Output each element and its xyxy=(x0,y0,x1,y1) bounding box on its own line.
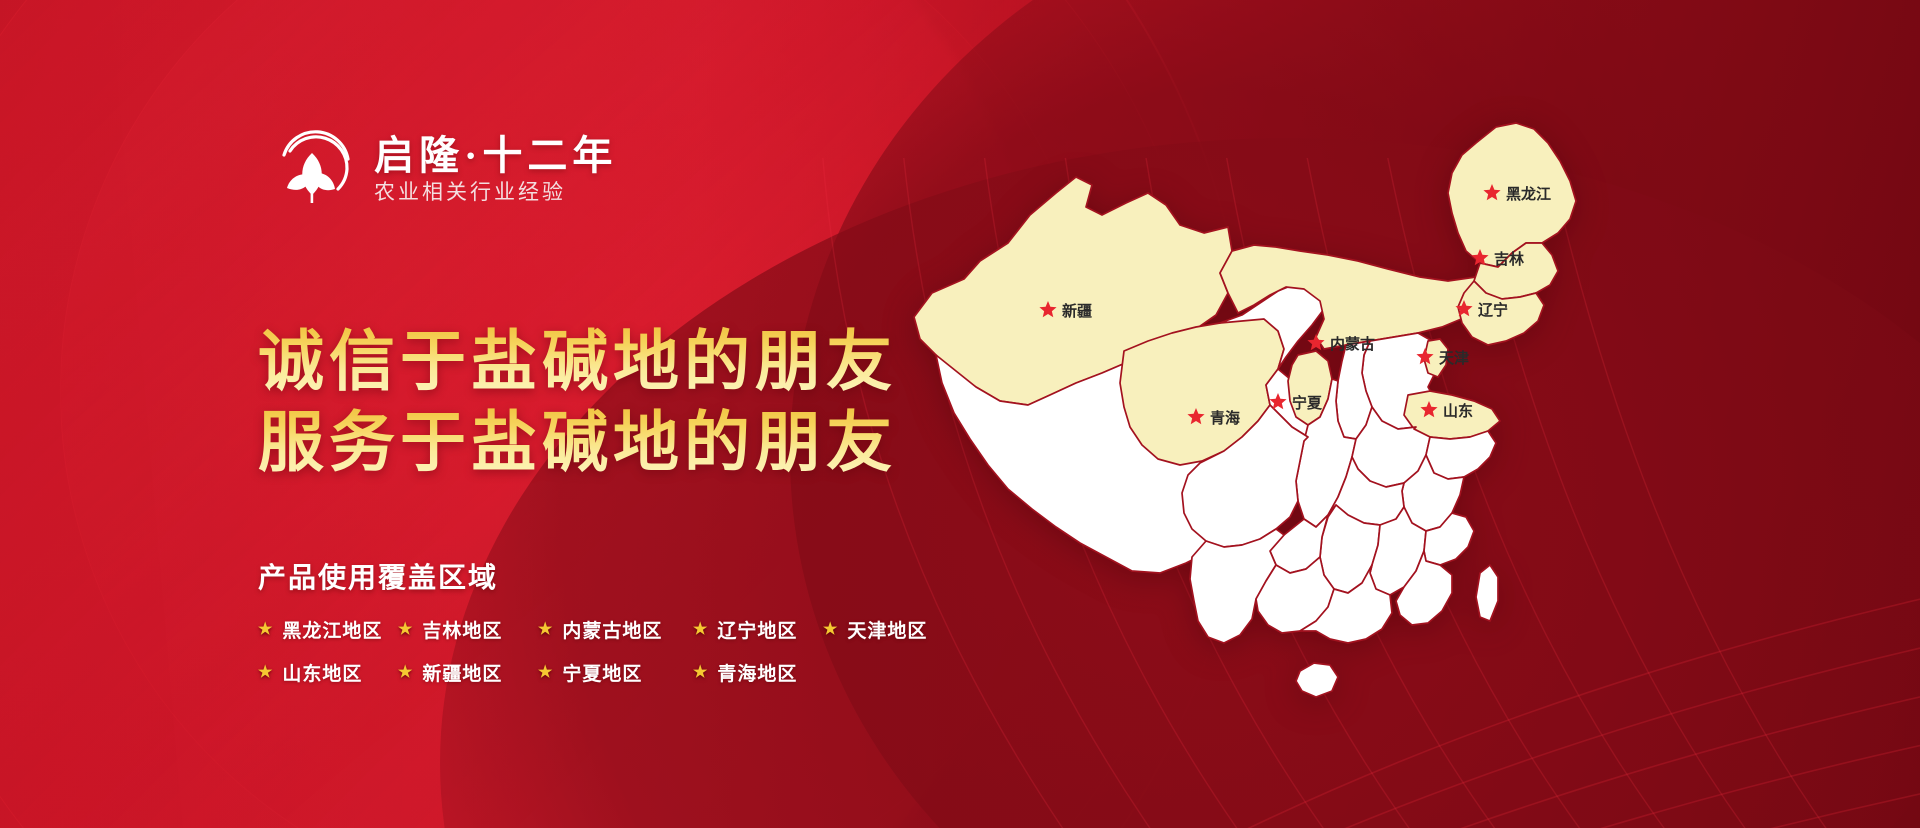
headline-line-2: 服务于盐碱地的朋友 xyxy=(258,403,897,484)
coverage-item[interactable]: ★黑龙江地区 xyxy=(258,616,398,643)
coverage-item[interactable]: ★辽宁地区 xyxy=(693,616,823,643)
headline: 诚信于盐碱地的朋友 服务于盐碱地的朋友 xyxy=(258,322,897,484)
map-label: 天津 xyxy=(1439,349,1469,367)
province-hainan xyxy=(1296,663,1338,697)
map-label: 青海 xyxy=(1210,409,1240,427)
star-icon: ★ xyxy=(538,622,553,638)
star-icon: ★ xyxy=(398,622,413,638)
map-label: 新疆 xyxy=(1062,302,1092,320)
coverage-item-label: 宁夏地区 xyxy=(562,659,642,686)
brand-title: 启隆·十二年 xyxy=(374,136,617,176)
coverage-item[interactable]: ★宁夏地区 xyxy=(538,659,693,686)
map-label: 宁夏 xyxy=(1292,394,1323,412)
coverage-item[interactable]: ★新疆地区 xyxy=(398,659,538,686)
map-label: 吉林 xyxy=(1494,250,1525,268)
star-icon: ★ xyxy=(823,622,838,638)
map-label: 黑龙江 xyxy=(1506,185,1551,203)
coverage-item[interactable]: ★吉林地区 xyxy=(398,616,538,643)
coverage-item-label: 新疆地区 xyxy=(422,659,502,686)
coverage-item[interactable]: ★山东地区 xyxy=(258,659,398,686)
star-icon: ★ xyxy=(398,665,413,681)
brand-logo[interactable]: 启隆·十二年 农业相关行业经验 xyxy=(268,125,617,213)
map-label: 山东 xyxy=(1443,402,1473,420)
star-icon: ★ xyxy=(693,622,708,638)
star-icon: ★ xyxy=(693,665,708,681)
province-taiwan xyxy=(1476,565,1498,621)
map-label: 内蒙古 xyxy=(1330,335,1375,353)
star-icon: ★ xyxy=(538,665,553,681)
brand-subtitle: 农业相关行业经验 xyxy=(374,182,617,203)
coverage-item-label: 青海地区 xyxy=(717,659,797,686)
headline-line-1: 诚信于盐碱地的朋友 xyxy=(258,322,897,403)
coverage-item-label: 山东地区 xyxy=(282,659,362,686)
coverage-item-label: 吉林地区 xyxy=(422,616,502,643)
banner-stage: 启隆·十二年 农业相关行业经验 诚信于盐碱地的朋友 服务于盐碱地的朋友 产品使用… xyxy=(0,0,1920,828)
star-icon: ★ xyxy=(258,665,273,681)
coverage-item-label: 黑龙江地区 xyxy=(282,616,382,643)
coverage-list: ★黑龙江地区★吉林地区★内蒙古地区★辽宁地区★天津地区★山东地区★新疆地区★宁夏… xyxy=(258,616,953,686)
china-coverage-map[interactable]: 黑龙江吉林辽宁内蒙古天津山东宁夏新疆青海 xyxy=(880,55,1640,775)
star-icon: ★ xyxy=(258,622,273,638)
coverage-section: 产品使用覆盖区域 ★黑龙江地区★吉林地区★内蒙古地区★辽宁地区★天津地区★山东地… xyxy=(258,556,953,686)
coverage-item[interactable]: ★内蒙古地区 xyxy=(538,616,693,643)
map-label: 辽宁 xyxy=(1478,301,1508,319)
province-jiangsu xyxy=(1426,431,1496,479)
coverage-item-label: 辽宁地区 xyxy=(717,616,797,643)
coverage-item-label: 内蒙古地区 xyxy=(562,616,662,643)
coverage-item[interactable]: ★青海地区 xyxy=(693,659,823,686)
coverage-title: 产品使用覆盖区域 xyxy=(258,556,953,596)
lotus-leaf-emblem-icon xyxy=(268,125,356,213)
